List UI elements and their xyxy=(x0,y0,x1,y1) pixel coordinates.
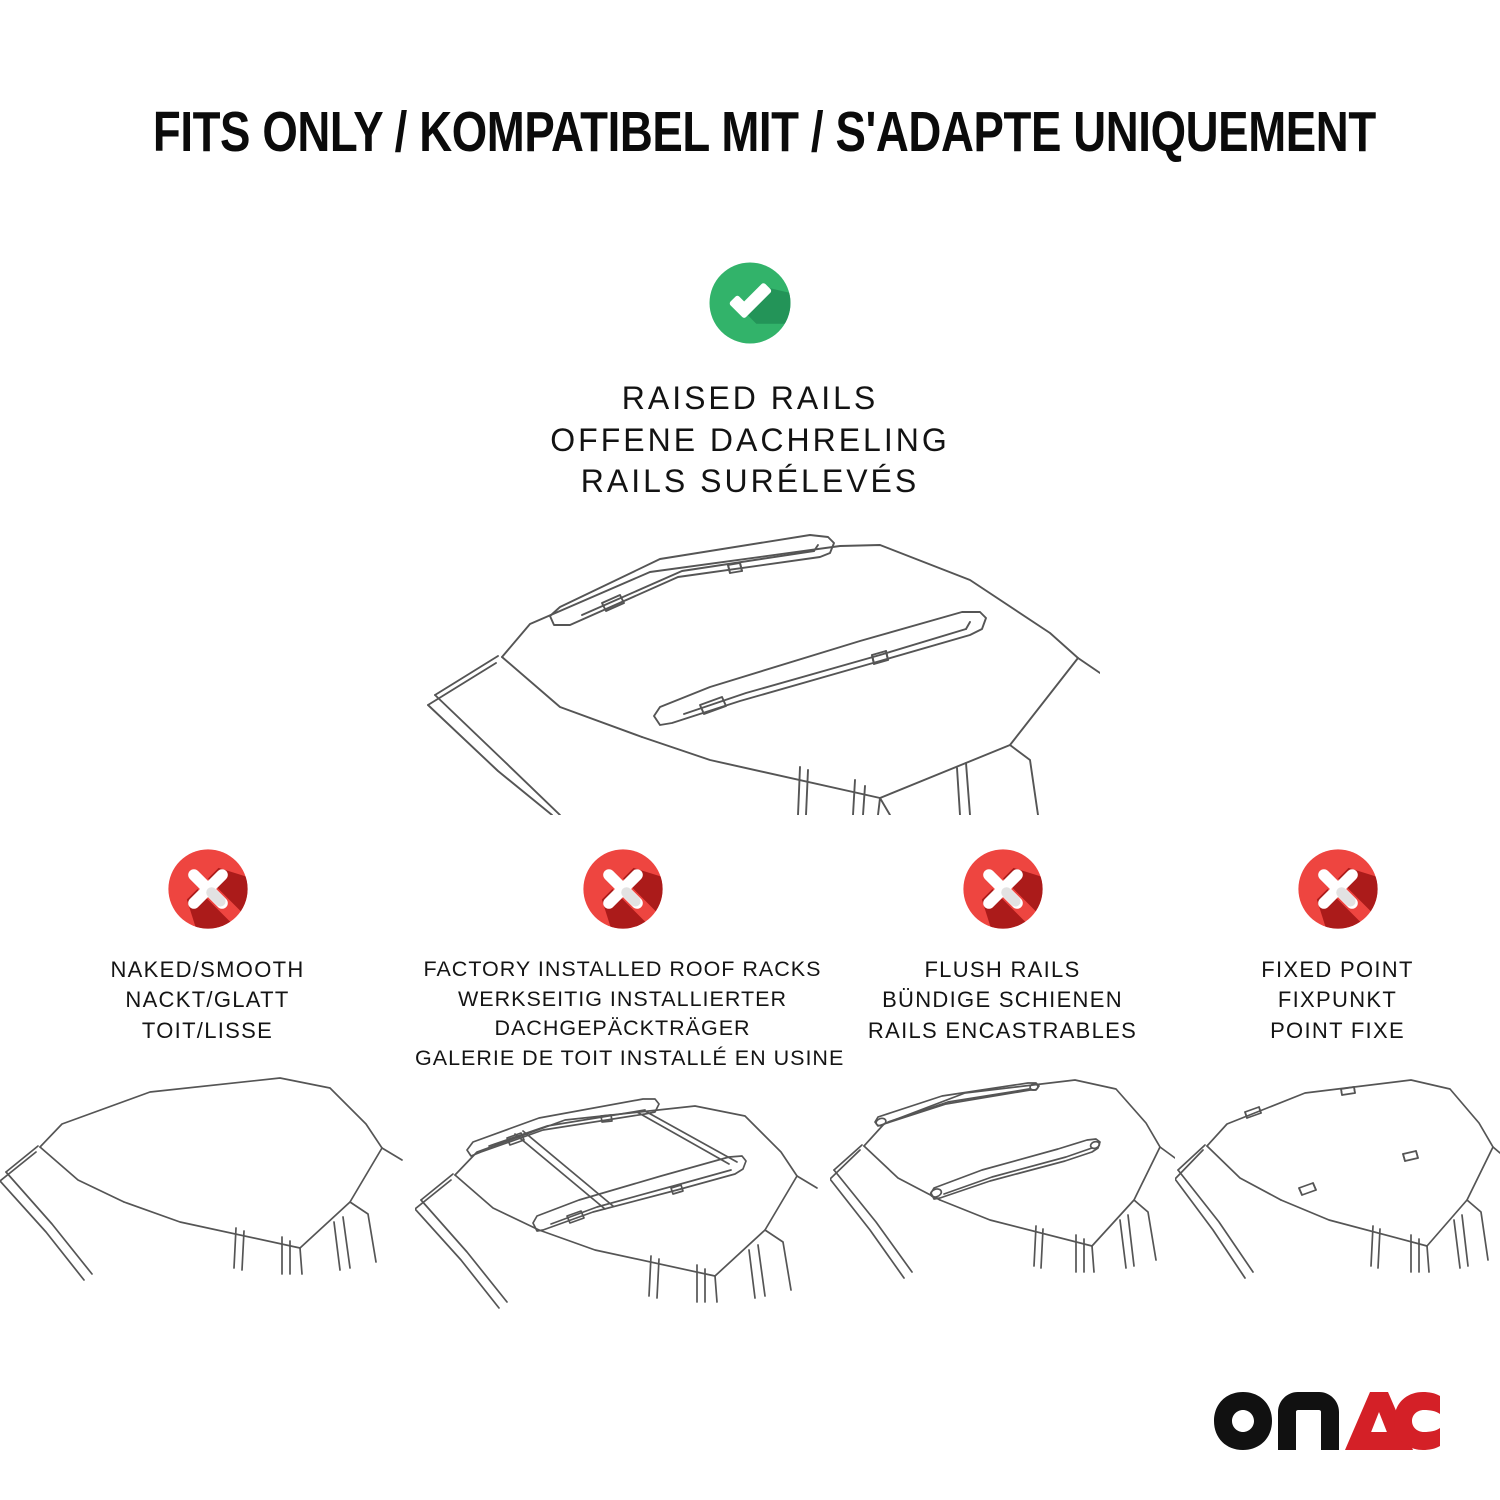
label-line-2: FIXPUNKT xyxy=(1175,985,1500,1015)
label-line-4: GALERIE DE TOIT INSTALLÉ EN USINE xyxy=(415,1044,830,1074)
incompatible-label-flush-rails: FLUSH RAILS BÜNDIGE SCHIENEN RAILS ENCAS… xyxy=(830,955,1175,1046)
page-title-text: FITS ONLY / KOMPATIBEL MIT / S'ADAPTE UN… xyxy=(153,104,1376,161)
compatible-label-line-3: RAILS SURÉLEVÉS xyxy=(0,461,1500,503)
car-roof-raised-rails-illustration xyxy=(410,515,1100,815)
incompatible-item-fixed-point: FIXED POINT FIXPUNKT POINT FIXE xyxy=(1175,845,1500,1292)
compatible-label-line-2: OFFENE DACHRELING xyxy=(0,420,1500,462)
label-line-2: BÜNDIGE SCHIENEN xyxy=(830,985,1175,1015)
incompatible-section: NAKED/SMOOTH NACKT/GLATT TOIT/LISSE xyxy=(0,845,1500,1320)
label-line-3: TOIT/LISSE xyxy=(0,1016,415,1046)
label-line-1: NAKED/SMOOTH xyxy=(0,955,415,985)
incompatible-item-flush-rails: FLUSH RAILS BÜNDIGE SCHIENEN RAILS ENCAS… xyxy=(830,845,1175,1292)
compatible-label: RAISED RAILS OFFENE DACHRELING RAILS SUR… xyxy=(0,378,1500,503)
compatible-label-line-1: RAISED RAILS xyxy=(0,378,1500,420)
omac-logo xyxy=(1212,1390,1442,1452)
label-line-1: FACTORY INSTALLED ROOF RACKS xyxy=(415,955,830,985)
label-line-3: POINT FIXE xyxy=(1175,1016,1500,1046)
car-roof-flush-rails-illustration xyxy=(830,1062,1175,1292)
incompatible-item-factory-roof-racks: FACTORY INSTALLED ROOF RACKS WERKSEITIG … xyxy=(415,845,830,1320)
check-circle-icon xyxy=(705,258,795,348)
x-circle-icon xyxy=(579,845,667,933)
car-roof-fixed-point-illustration xyxy=(1175,1062,1500,1292)
incompatible-item-naked-smooth: NAKED/SMOOTH NACKT/GLATT TOIT/LISSE xyxy=(0,845,415,1292)
x-circle-icon xyxy=(164,845,252,933)
x-circle-icon xyxy=(1294,845,1382,933)
label-line-2: NACKT/GLATT xyxy=(0,985,415,1015)
car-roof-factory-racks-illustration xyxy=(415,1090,830,1320)
label-line-3: DACHGEPÄCKTRÄGER xyxy=(415,1014,830,1044)
incompatible-label-naked-smooth: NAKED/SMOOTH NACKT/GLATT TOIT/LISSE xyxy=(0,955,415,1046)
x-circle-icon xyxy=(959,845,1047,933)
compatible-section: RAISED RAILS OFFENE DACHRELING RAILS SUR… xyxy=(0,258,1500,503)
label-line-1: FLUSH RAILS xyxy=(830,955,1175,985)
incompatible-label-fixed-point: FIXED POINT FIXPUNKT POINT FIXE xyxy=(1175,955,1500,1046)
page-title: FITS ONLY / KOMPATIBEL MIT / S'ADAPTE UN… xyxy=(0,104,1500,161)
label-line-3: RAILS ENCASTRABLES xyxy=(830,1016,1175,1046)
incompatible-label-factory-roof-racks: FACTORY INSTALLED ROOF RACKS WERKSEITIG … xyxy=(415,955,830,1074)
label-line-2: WERKSEITIG INSTALLIERTER xyxy=(415,985,830,1015)
car-roof-naked-illustration xyxy=(0,1062,415,1292)
label-line-1: FIXED POINT xyxy=(1175,955,1500,985)
